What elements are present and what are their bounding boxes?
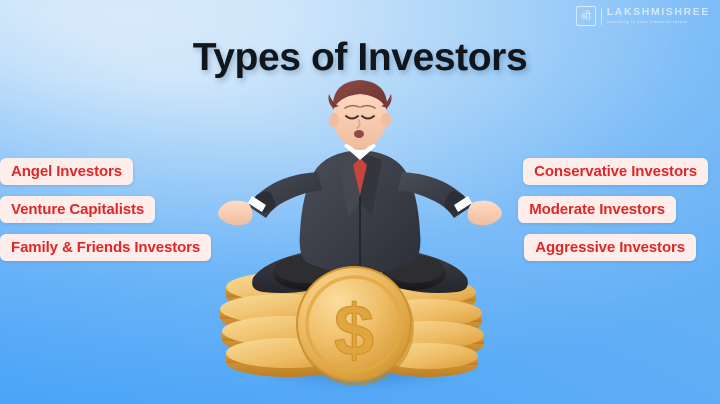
investor-type-moderate[interactable]: Moderate Investors xyxy=(518,196,676,223)
investor-type-label: Aggressive Investors xyxy=(535,239,685,256)
dollar-symbol: $ xyxy=(334,291,374,371)
shri-symbol-icon: श्री xyxy=(576,6,596,26)
meditating-businessman xyxy=(218,80,502,298)
slide-canvas: श्री LAKSHMISHREE Investing in your fina… xyxy=(0,0,720,404)
investor-type-angel[interactable]: Angel Investors xyxy=(0,158,133,185)
logo-divider xyxy=(601,8,602,25)
brand-logo: श्री LAKSHMISHREE Investing in your fina… xyxy=(576,6,710,26)
investor-type-conservative[interactable]: Conservative Investors xyxy=(523,158,708,185)
logo-text-block: LAKSHMISHREE Investing in your financial… xyxy=(607,7,710,25)
investor-type-label: Family & Friends Investors xyxy=(11,239,200,256)
dollar-coin: $ xyxy=(297,267,414,386)
investor-type-label: Angel Investors xyxy=(11,163,122,180)
investor-type-label: Conservative Investors xyxy=(534,163,697,180)
investor-type-label: Venture Capitalists xyxy=(11,201,144,218)
investor-type-label: Moderate Investors xyxy=(529,201,665,218)
investor-type-venture-capitalists[interactable]: Venture Capitalists xyxy=(0,196,155,223)
page-title: Types of Investors xyxy=(0,36,720,80)
brand-name: LAKSHMISHREE xyxy=(607,7,710,18)
investor-type-aggressive[interactable]: Aggressive Investors xyxy=(524,234,696,261)
investor-type-family-friends[interactable]: Family & Friends Investors xyxy=(0,234,211,261)
brand-tagline: Investing in your financial future xyxy=(607,19,710,25)
